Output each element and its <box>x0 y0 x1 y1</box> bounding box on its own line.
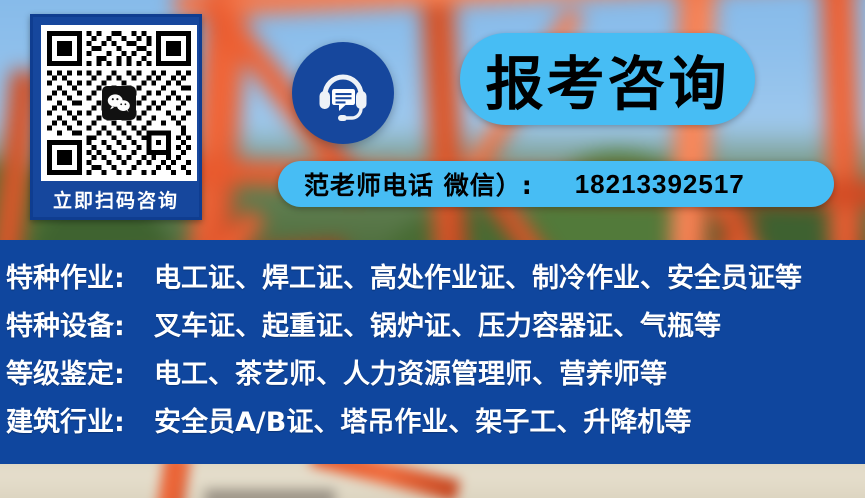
info-row-value: 电工证、焊工证、高处作业证、制冷作业、安全员证等 <box>154 256 802 295</box>
info-row-label: 特种设备: <box>6 304 154 343</box>
info-row: 特种作业: 电工证、焊工证、高处作业证、制冷作业、安全员证等 <box>6 256 865 304</box>
qr-caption: 立即扫码咨询 <box>41 181 191 221</box>
wechat-qr-panel[interactable]: 立即扫码咨询 <box>30 14 202 220</box>
contact-phone-number[interactable]: 18213392517 <box>575 169 745 200</box>
bottom-shadow <box>205 490 335 498</box>
headset-support-icon <box>292 42 394 144</box>
certification-info-band: 特种作业: 电工证、焊工证、高处作业证、制冷作业、安全员证等 特种设备: 叉车证… <box>0 240 865 464</box>
title-text: 报考咨询 <box>485 37 729 121</box>
wechat-glyph <box>107 93 131 113</box>
contact-label: 范老师电话 微信）: <box>304 166 533 202</box>
contact-pill[interactable]: 范老师电话 微信）: 18213392517 <box>278 161 834 207</box>
info-row-label: 特种作业: <box>6 256 154 295</box>
info-row-value: 安全员A/B证、塔吊作业、架子工、升降机等 <box>154 400 691 439</box>
qr-code-image[interactable] <box>41 25 197 181</box>
info-row-value: 电工、茶艺师、人力资源管理师、营养师等 <box>154 352 667 391</box>
bottom-photo-strip <box>0 464 865 498</box>
info-row-label: 建筑行业: <box>6 400 154 439</box>
title-pill[interactable]: 报考咨询 <box>460 33 755 125</box>
headset-glyph <box>312 62 374 124</box>
promotional-poster: 立即扫码咨询 报考咨询 范老师电话 微信）: 18213392517 <box>0 0 865 498</box>
info-row-value: 叉车证、起重证、锅炉证、压力容器证、气瓶等 <box>154 304 721 343</box>
info-row-label: 等级鉴定: <box>6 352 154 391</box>
info-row: 建筑行业: 安全员A/B证、塔吊作业、架子工、升降机等 <box>6 400 865 448</box>
info-row: 特种设备: 叉车证、起重证、锅炉证、压力容器证、气瓶等 <box>6 304 865 352</box>
wechat-icon <box>102 86 136 120</box>
info-row: 等级鉴定: 电工、茶艺师、人力资源管理师、营养师等 <box>6 352 865 400</box>
